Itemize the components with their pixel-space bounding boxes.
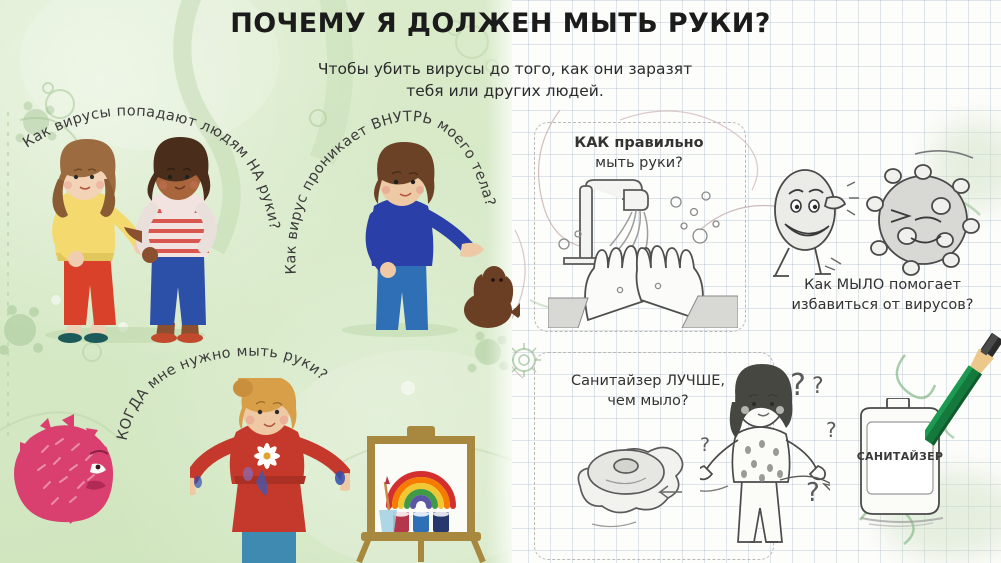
question-mark-icon: ? [806, 478, 820, 508]
question-mark-icon: ? [826, 418, 837, 442]
question-how-to-wash: КАК правильно мыть руки? [534, 134, 744, 173]
page-subtitle: Чтобы убить вирусы до того, как они зара… [290, 58, 720, 103]
illustration-green-pencil [925, 325, 1001, 450]
question-how-soap-helps-line-1: Как МЫЛО помогает [780, 276, 985, 296]
illustration-girl-painting [190, 378, 350, 563]
illustration-soap-vs-virus [765, 148, 985, 288]
subtitle-line-1: Чтобы убить вирусы до того, как они зара… [290, 58, 720, 80]
illustration-boy-with-dog [330, 140, 520, 340]
question-how-soap-helps: Как МЫЛО помогает избавиться от вирусов? [780, 276, 985, 315]
illustration-pink-virus [8, 400, 123, 530]
illustration-shrugging-girl [700, 362, 830, 552]
question-mark-icon: ? [812, 374, 824, 399]
page-title: ПОЧЕМУ Я ДОЛЖЕН МЫТЬ РУКИ? [0, 8, 1001, 39]
sanitizer-bottle-label: САНИТАЙЗЕР [857, 450, 944, 463]
question-how-soap-helps-line-2: избавиться от вирусов? [780, 296, 985, 316]
illustration-two-girls-sharing [30, 135, 220, 345]
question-mark-icon: ? [790, 368, 806, 403]
illustration-hands-under-faucet [548, 178, 738, 328]
question-mark-icon: ? [700, 434, 710, 456]
question-how-to-wash-line-2: мыть руки? [534, 154, 744, 174]
subtitle-line-2: тебя или других людей. [290, 80, 720, 102]
illustration-easel-rainbow [345, 418, 495, 563]
infographic-page: ПОЧЕМУ Я ДОЛЖЕН МЫТЬ РУКИ? Чтобы убить в… [0, 0, 1001, 563]
illustration-soap-bar-dish [562, 432, 702, 552]
question-how-to-wash-line-1: КАК правильно [534, 134, 744, 154]
